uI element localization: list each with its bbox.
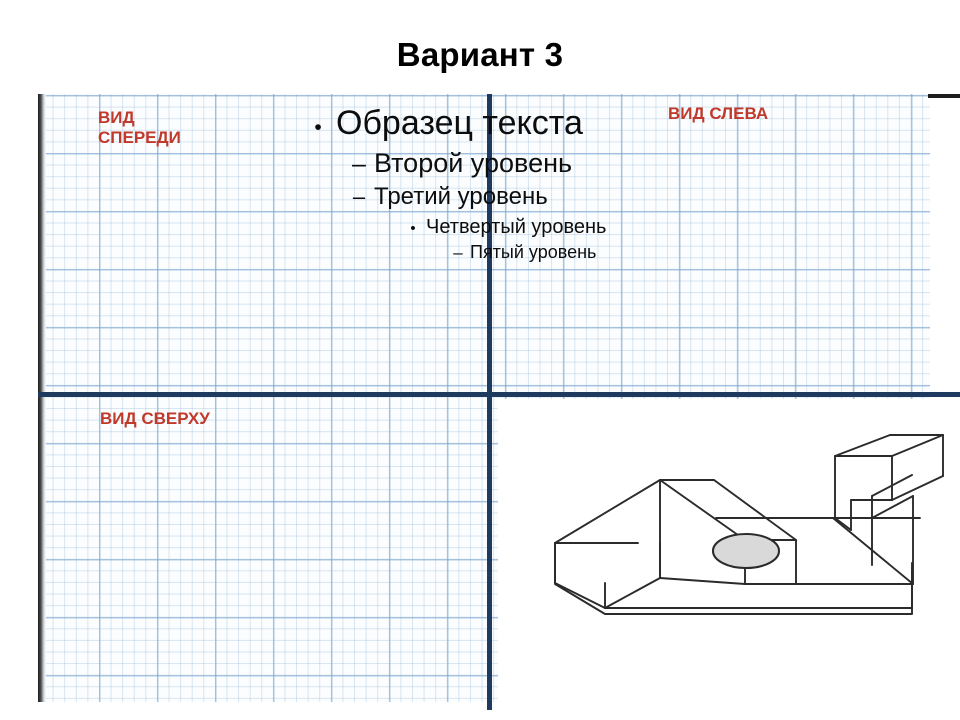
outline-text-level3: Третий уровень — [374, 183, 548, 211]
horizontal-axis-line — [38, 392, 960, 397]
outline-text-level1: Образец текста — [336, 104, 583, 143]
scan-binding-edge — [38, 94, 46, 702]
outline-placeholder[interactable]: • Образец текста – Второй уровень – Трет… — [300, 104, 740, 263]
ridge-to-base-left — [605, 578, 660, 608]
step-upper-back-top-left — [835, 435, 890, 456]
base-right-corner-slope — [913, 526, 950, 561]
isometric-part-drawing — [500, 418, 950, 686]
label-view-front-line1: ВИД — [98, 108, 181, 128]
page-title: Вариант 3 — [0, 36, 960, 74]
bullet-marker-level3: – — [344, 184, 374, 210]
through-hole-ellipse — [713, 534, 779, 568]
base-back-left-edge — [555, 480, 660, 543]
step-notch-corner-slope — [835, 518, 851, 530]
outline-item-level5[interactable]: – Пятый уровень — [446, 242, 740, 263]
ridge-top-left-slope — [660, 480, 745, 540]
bullet-marker-level4: • — [400, 220, 426, 237]
outline-text-level4: Четвертый уровень — [426, 216, 606, 239]
outline-text-level5: Пятый уровень — [470, 242, 596, 263]
step-upper-top-right-slope — [892, 435, 943, 456]
label-view-front-line2: СПЕРЕДИ — [98, 128, 181, 148]
slide-canvas: Вариант 3 ВИД СПЕРЕДИ ВИД СЛЕВА ВИД СВЕР… — [0, 0, 960, 720]
outline-item-level3[interactable]: – Третий уровень — [344, 183, 740, 211]
step-upper-inner-bottom-slope — [892, 476, 943, 500]
base-left-notch-slope — [638, 543, 660, 578]
label-view-top: ВИД СВЕРХУ — [100, 409, 210, 429]
ridge-top-right-slope — [714, 480, 796, 540]
label-view-front: ВИД СПЕРЕДИ — [98, 108, 181, 148]
outline-text-level2: Второй уровень — [374, 148, 572, 179]
ridge-lower-slope-left — [660, 578, 745, 584]
isometric-part-svg — [500, 418, 950, 686]
bullet-marker-level1: • — [300, 116, 336, 140]
outline-item-level4[interactable]: • Четвертый уровень — [400, 216, 740, 239]
plateau-right-diagonal — [833, 518, 913, 584]
bullet-marker-level5: – — [446, 243, 470, 263]
outline-item-level1[interactable]: • Образец текста — [300, 104, 740, 143]
outline-item-level2[interactable]: – Второй уровень — [344, 148, 740, 179]
step-lower-top-back-slope — [855, 473, 912, 496]
bullet-marker-level2: – — [344, 150, 374, 179]
scan-top-right-edge — [928, 94, 960, 98]
